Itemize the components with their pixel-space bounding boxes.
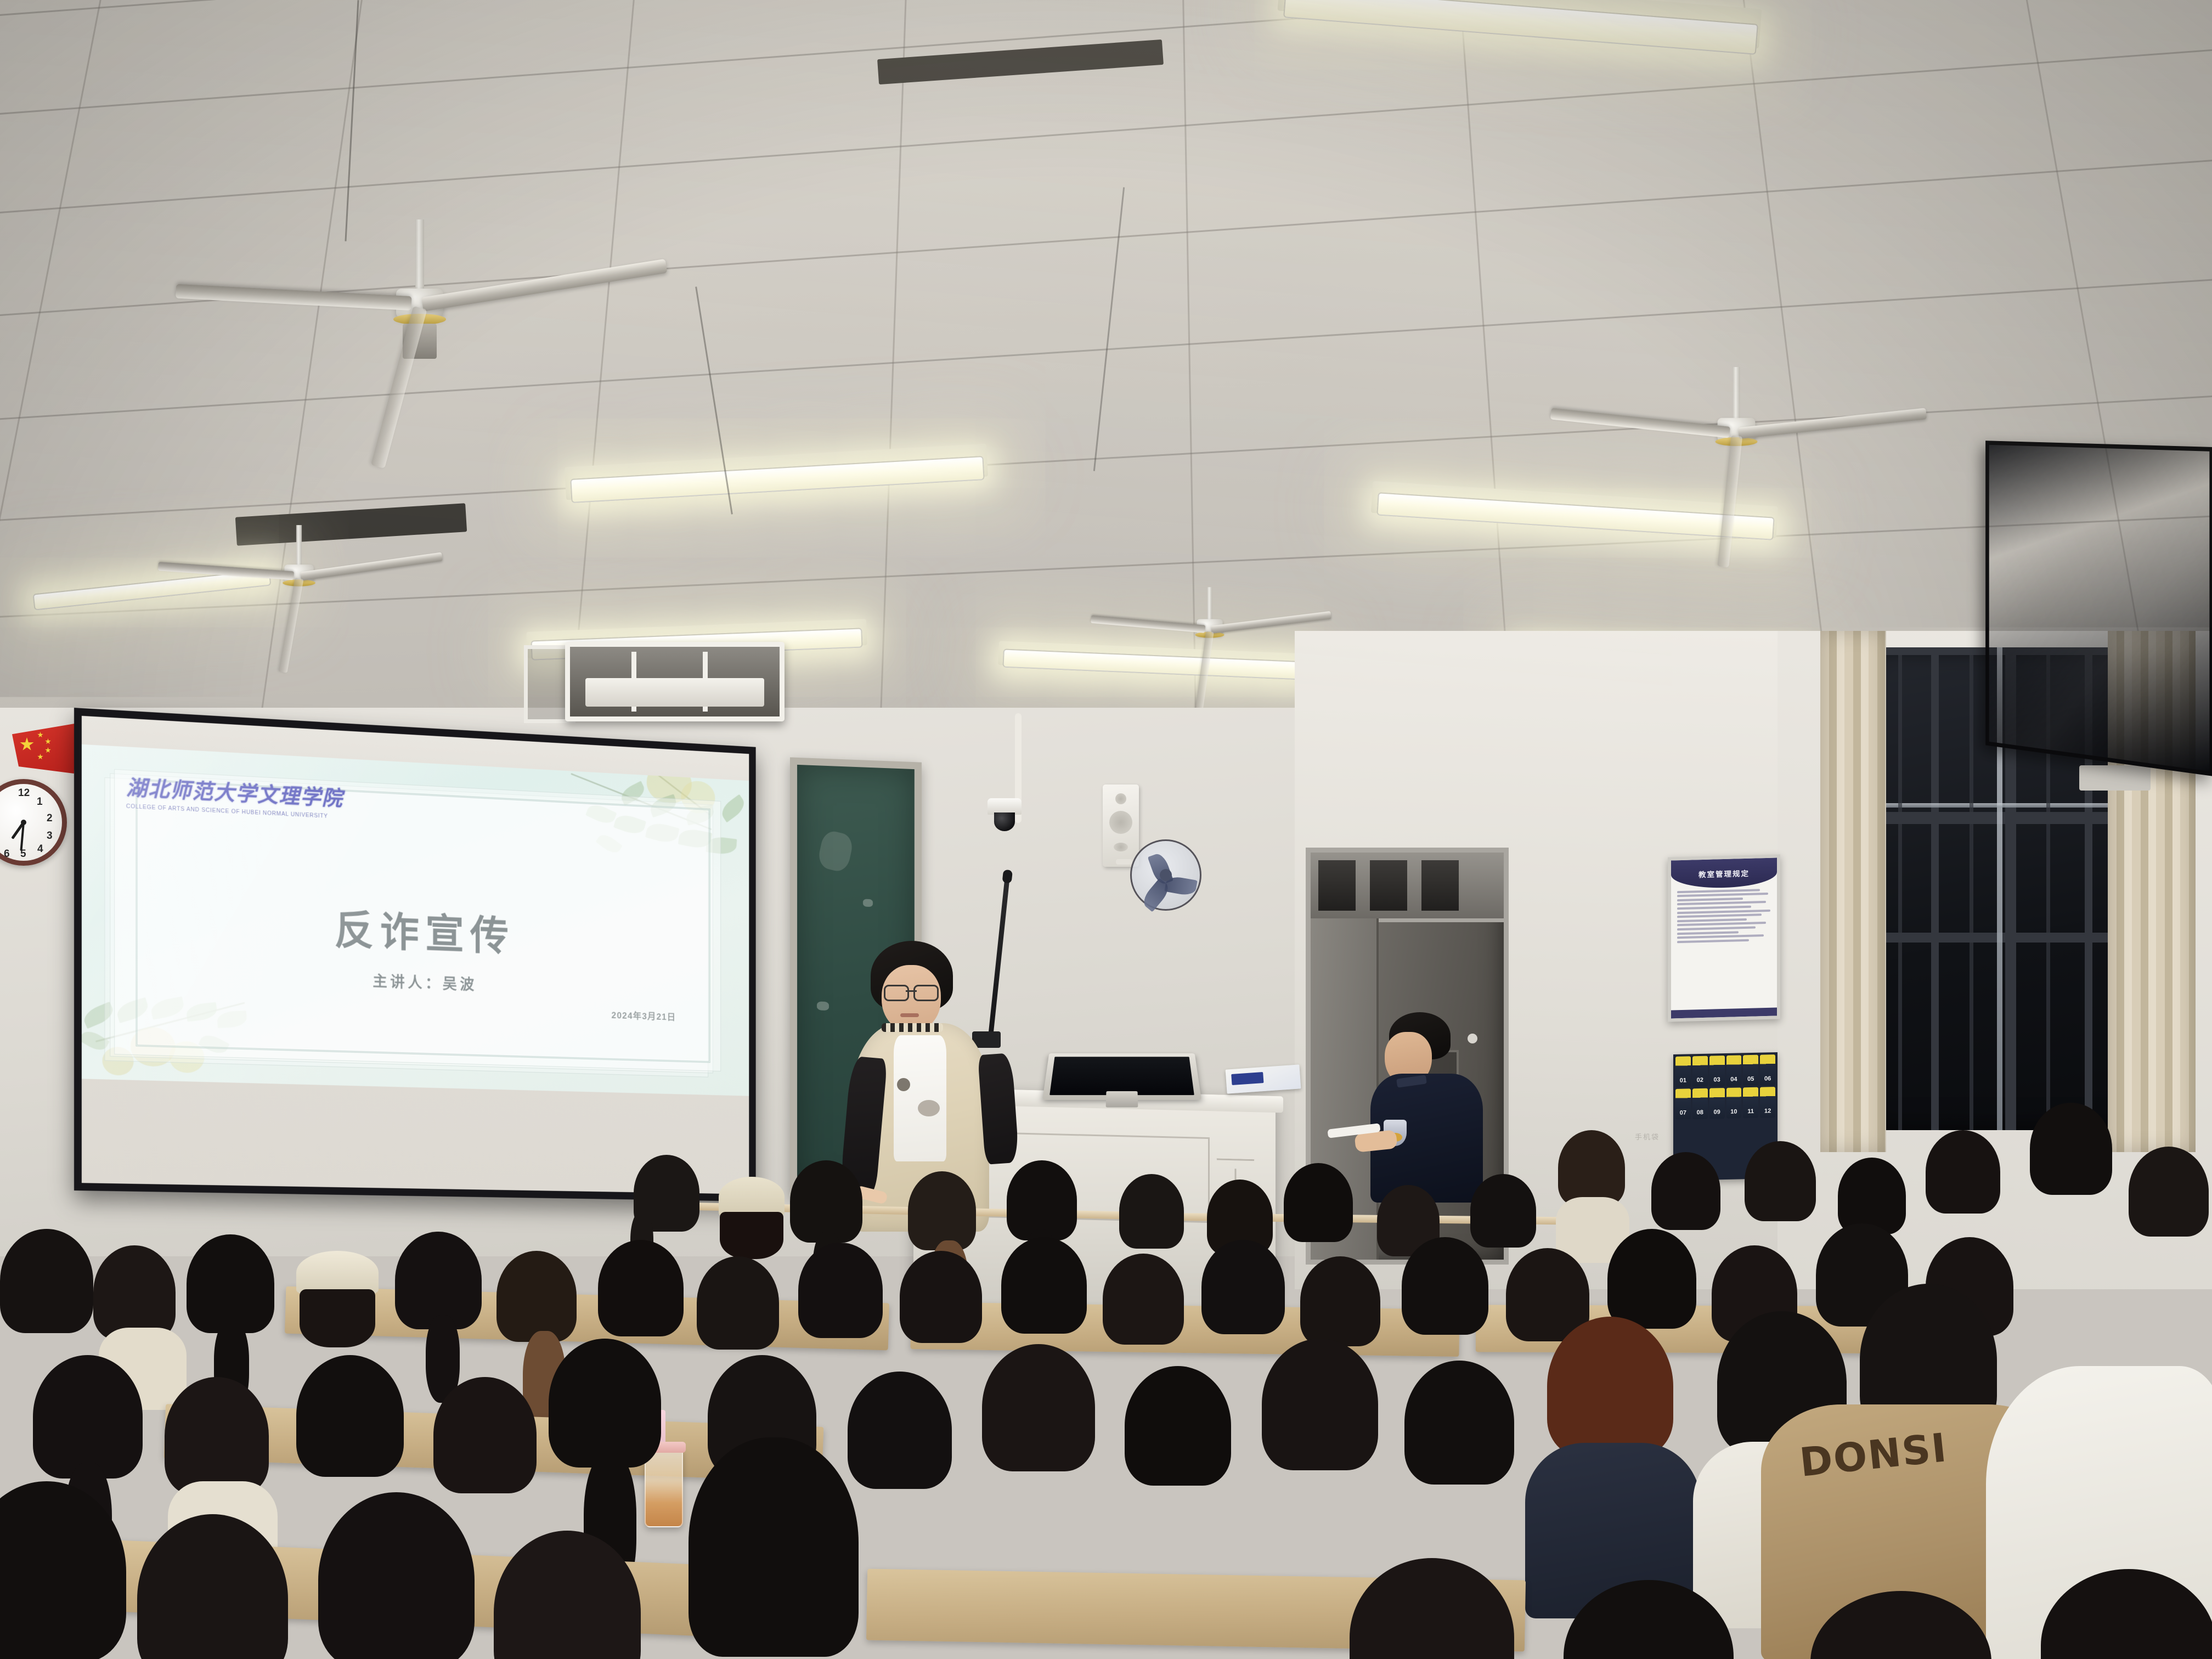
phone-pocket: 07 [1675,1088,1691,1120]
phone-pocket: 12 [1760,1087,1775,1118]
university-logo: 湖北师范大学文理学院 COLLEGE OF ARTS AND SCIENCE O… [126,771,343,820]
slide-speaker: 主讲人：吴波 [82,960,749,1005]
slide-inner-border [136,779,710,1063]
notebook [991,1577,1121,1655]
leaf-decoration-bottom [82,968,295,1096]
ceiling-fan [297,539,301,542]
curtain-left [1820,631,1886,1152]
papers-on-podium [1226,1064,1301,1093]
rules-poster-title: 教室管理规定 [1699,867,1750,879]
phone-pocket: 06 [1760,1054,1775,1086]
slide-card-stack [114,769,721,1071]
cap-icon [296,1251,379,1295]
phone-pocket: 08 [1692,1088,1708,1120]
wall-fan [1130,839,1201,911]
jacket-brand-text: DONSI [1797,1424,1949,1486]
slide-title: 反诈宣传 [82,886,749,971]
projection-screen: 湖北师范大学文理学院 COLLEGE OF ARTS AND SCIENCE O… [74,708,756,1201]
university-logo-en: COLLEGE OF ARTS AND SCIENCE OF HUBEI NOR… [126,803,343,820]
classroom-rules-poster: 教室管理规定 [1668,854,1780,1022]
bubble-tea-cup [645,1448,683,1527]
glasses-icon [884,985,939,998]
door-transom [1311,853,1504,922]
phone-pocket: 03 [1709,1056,1725,1087]
phone-pocket-label: 手机袋 [1635,1131,1660,1142]
university-logo-cn: 湖北师范大学文理学院 [126,771,343,812]
phone-pocket: 09 [1709,1088,1725,1119]
phone-pocket: 10 [1726,1087,1742,1119]
presentation-slide: 湖北师范大学文理学院 COLLEGE OF ARTS AND SCIENCE O… [82,744,749,1096]
security-camera-icon [988,798,1022,829]
ceiling-fan [417,236,422,241]
phone-pocket: 11 [1743,1087,1758,1119]
ceiling-fan [1734,385,1739,389]
phone-pocket: 04 [1726,1055,1742,1086]
phone-pocket: 05 [1743,1055,1758,1086]
ceiling-fan [1208,599,1211,602]
ceiling-projector [565,642,785,721]
classroom-photo-scene: 12 1 2 3 4 5 6 [0,0,2212,1659]
podium-monitor[interactable] [1042,1053,1201,1100]
wall-tv[interactable] [1985,441,2212,776]
police-officer [1361,1012,1487,1199]
screen-surface: 湖北师范大学文理学院 COLLEGE OF ARTS AND SCIENCE O… [82,716,749,1194]
tv-mount [2079,765,2151,791]
phone-pocket: 02 [1692,1056,1708,1087]
slide-date: 2024年3月21日 [612,1008,676,1023]
glasses-icon [913,1594,969,1627]
ceiling-service-slot [235,503,467,546]
leaf-decoration-top [522,758,749,905]
phone-pocket: 01 [1675,1056,1691,1087]
